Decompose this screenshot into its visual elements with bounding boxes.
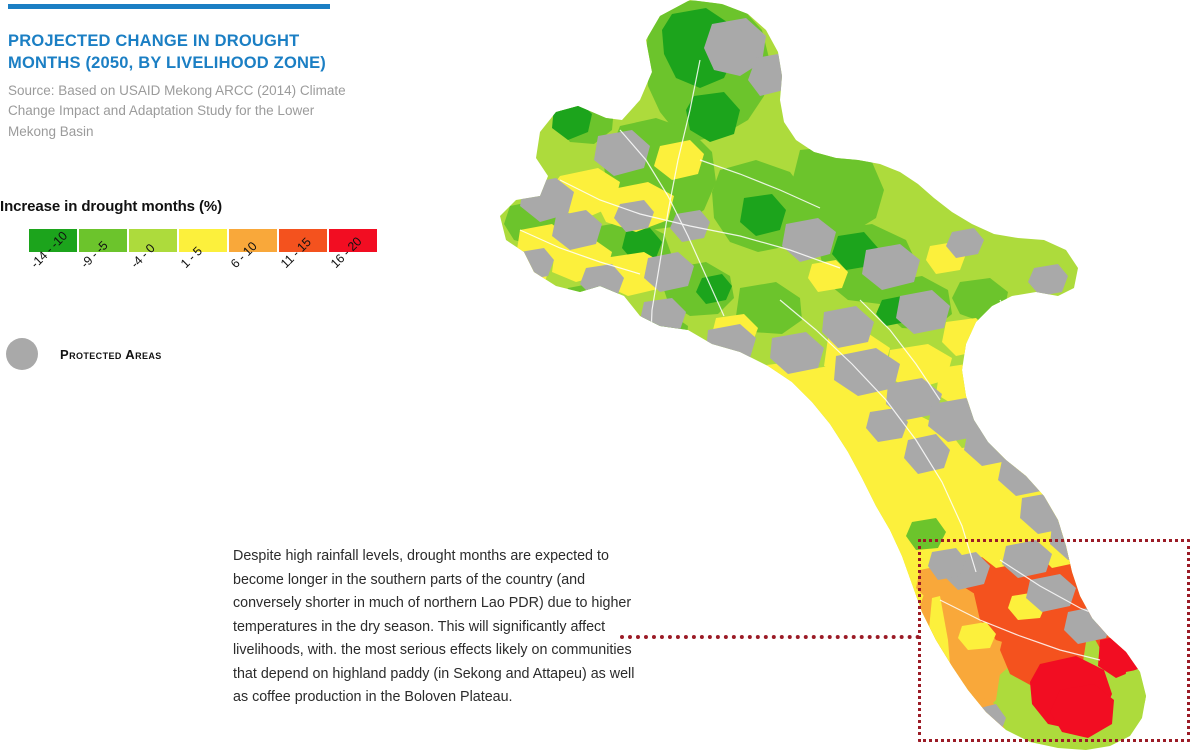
- source-note: Source: Based on USAID Mekong ARCC (2014…: [8, 81, 353, 143]
- legend-label-row: -14 - -10 -9 - -5 -4 - 0 1 - 5 6 - 10 11…: [28, 253, 378, 321]
- callout-leader-line: [620, 635, 920, 639]
- protected-areas-label: Protected Areas: [60, 347, 162, 362]
- legend-swatch-3: [178, 228, 228, 253]
- legend-swatch-row: [28, 228, 378, 253]
- page-title: PROJECTED CHANGE IN DROUGHT MONTHS (2050…: [8, 31, 328, 75]
- legend: Increase in drought months (%) -14 - -10…: [0, 198, 400, 321]
- title-rule: [8, 4, 330, 9]
- callout-highlight-box: [918, 539, 1190, 742]
- header-block: PROJECTED CHANGE IN DROUGHT MONTHS (2050…: [8, 0, 358, 142]
- description-paragraph: Despite high rainfall levels, drought mo…: [233, 545, 653, 710]
- legend-title: Increase in drought months (%): [0, 198, 400, 215]
- protected-area-swatch-icon: [6, 338, 38, 370]
- protected-areas-legend-item: Protected Areas: [6, 338, 306, 370]
